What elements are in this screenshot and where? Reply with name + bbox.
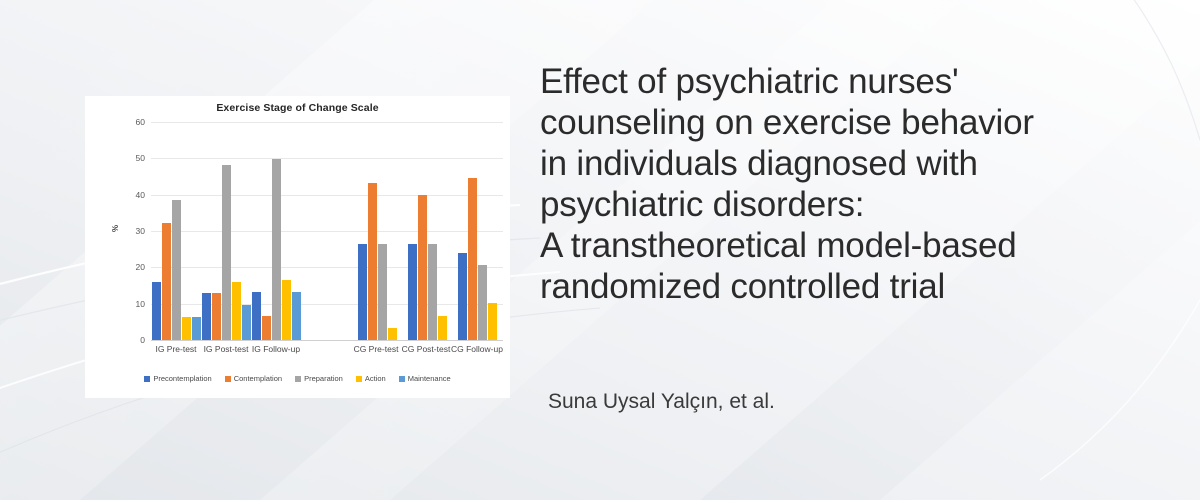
title-line-4: psychiatric disorders:: [540, 185, 1160, 226]
bar-preparation[interactable]: [172, 200, 181, 340]
legend-item-action[interactable]: Action: [356, 374, 386, 383]
bar-action[interactable]: [488, 303, 497, 340]
bar-contemplation[interactable]: [212, 293, 221, 340]
y-tick-10: 10: [119, 299, 145, 309]
legend-label: Precontemplation: [153, 374, 211, 383]
bar-contemplation[interactable]: [162, 223, 171, 340]
bar-contemplation[interactable]: [468, 178, 477, 340]
y-axis-tick-labels: 0102030405060: [117, 122, 145, 340]
title-line-3: in individuals diagnosed with: [540, 144, 1160, 185]
legend-label: Action: [365, 374, 386, 383]
legend-swatch-icon: [399, 376, 405, 382]
y-tick-0: 0: [119, 335, 145, 345]
legend-item-preparation[interactable]: Preparation: [295, 374, 343, 383]
bar-precontemplation[interactable]: [252, 292, 261, 340]
chart-card: Exercise Stage of Change Scale % 0102030…: [85, 96, 510, 398]
bar-maintenance[interactable]: [192, 317, 201, 340]
chart-plot-wrapper: % 0102030405060 IG Pre-testIG Post-testI…: [85, 122, 510, 370]
bar-preparation[interactable]: [222, 165, 231, 340]
bar-action[interactable]: [282, 280, 291, 340]
y-tick-20: 20: [119, 262, 145, 272]
bar-preparation[interactable]: [272, 159, 281, 340]
legend-swatch-icon: [295, 376, 301, 382]
authors-line: Suna Uysal Yalçın, et al.: [548, 390, 775, 414]
plot-area: [151, 122, 503, 340]
bar-preparation[interactable]: [428, 244, 437, 340]
title-line-5: A transtheoretical model-based: [540, 226, 1160, 267]
x-label-cg-follow-up: CG Follow-up: [451, 344, 503, 354]
chart-title: Exercise Stage of Change Scale: [85, 102, 510, 114]
title-line-2: counseling on exercise behavior: [540, 103, 1160, 144]
x-label-cg-post-test: CG Post-test: [401, 344, 451, 354]
x-axis-tick-labels: IG Pre-testIG Post-testIG Follow-upCG Pr…: [151, 344, 503, 354]
legend-item-maintenance[interactable]: Maintenance: [399, 374, 451, 383]
bar-group-cg-pre-test: [352, 122, 402, 340]
bar-group-ig-post-test: [201, 122, 251, 340]
gridline-0: [151, 340, 503, 341]
y-tick-60: 60: [119, 117, 145, 127]
bar-group-spacer: [302, 122, 352, 340]
bar-contemplation[interactable]: [418, 195, 427, 340]
bar-preparation[interactable]: [378, 244, 387, 340]
legend-swatch-icon: [144, 376, 150, 382]
x-label-ig-pre-test: IG Pre-test: [151, 344, 201, 354]
bar-group-ig-follow-up: [252, 122, 302, 340]
y-tick-40: 40: [119, 190, 145, 200]
bar-group-ig-pre-test: [151, 122, 201, 340]
title-line-6: randomized controlled trial: [540, 267, 1160, 308]
bar-preparation[interactable]: [478, 265, 487, 340]
legend-item-precontemplation[interactable]: Precontemplation: [144, 374, 211, 383]
bar-action[interactable]: [388, 328, 397, 340]
bar-contemplation[interactable]: [262, 316, 271, 340]
bar-precontemplation[interactable]: [458, 253, 467, 340]
chart-legend: PrecontemplationContemplationPreparation…: [85, 374, 510, 383]
page-title: Effect of psychiatric nurses'counseling …: [540, 62, 1160, 308]
legend-label: Contemplation: [234, 374, 282, 383]
y-tick-50: 50: [119, 153, 145, 163]
x-label-cg-pre-test: CG Pre-test: [351, 344, 401, 354]
legend-label: Maintenance: [408, 374, 451, 383]
y-tick-30: 30: [119, 226, 145, 236]
legend-item-contemplation[interactable]: Contemplation: [225, 374, 282, 383]
bar-precontemplation[interactable]: [202, 293, 211, 340]
bar-group-cg-follow-up: [453, 122, 503, 340]
legend-label: Preparation: [304, 374, 343, 383]
x-label-ig-post-test: IG Post-test: [201, 344, 251, 354]
bar-action[interactable]: [438, 316, 447, 340]
bar-maintenance[interactable]: [292, 292, 301, 340]
bar-precontemplation[interactable]: [408, 244, 417, 340]
bar-precontemplation[interactable]: [358, 244, 367, 340]
bar-contemplation[interactable]: [368, 183, 377, 340]
legend-swatch-icon: [225, 376, 231, 382]
title-line-1: Effect of psychiatric nurses': [540, 62, 1160, 103]
x-label-ig-follow-up: IG Follow-up: [251, 344, 301, 354]
bar-series-container: [151, 122, 503, 340]
bar-precontemplation[interactable]: [152, 282, 161, 340]
bar-action[interactable]: [182, 317, 191, 340]
bar-group-cg-post-test: [402, 122, 452, 340]
x-label-blank: [301, 344, 351, 354]
bar-action[interactable]: [232, 282, 241, 340]
legend-swatch-icon: [356, 376, 362, 382]
bar-maintenance[interactable]: [242, 305, 251, 340]
title-block: Effect of psychiatric nurses'counseling …: [540, 62, 1160, 308]
